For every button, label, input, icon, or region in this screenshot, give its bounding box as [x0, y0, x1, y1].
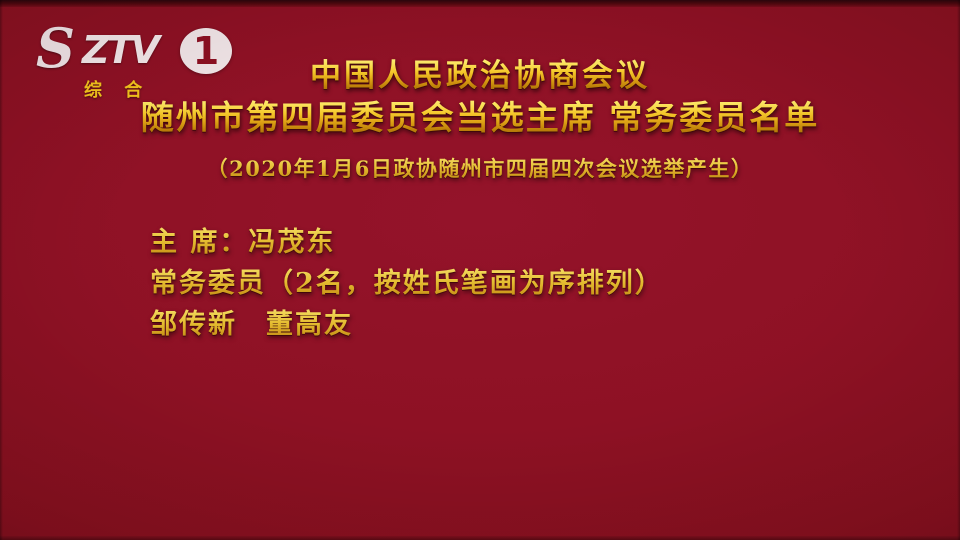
headline-source-note: （2020年1月6日政协随州市四届四次会议选举产生） [0, 154, 960, 184]
roster-block: 主 席：冯茂东 常务委员（2名，按姓氏笔画为序排列） 邹传新 董高友 [150, 222, 850, 345]
top-letterbox-band [0, 0, 960, 7]
roster-line-chairman: 主 席：冯茂东 [150, 222, 850, 263]
headline-block: 中国人民政治协商会议 随州市第四届委员会当选主席 常务委员名单 （2020年1月… [0, 58, 960, 184]
headline-line-1: 中国人民政治协商会议 [0, 58, 960, 94]
roster-line-standing-committee-header: 常务委员（2名，按姓氏笔画为序排列） [150, 263, 850, 304]
bottom-letterbox-band [0, 536, 960, 540]
broadcast-screen: S ZTV 1 综 合 中国人民政治协商会议 随州市第四届委员会当选主席 常务委… [0, 0, 960, 540]
headline-line-2: 随州市第四届委员会当选主席 常务委员名单 [0, 98, 960, 138]
roster-line-standing-committee-members: 邹传新 董高友 [150, 304, 850, 345]
